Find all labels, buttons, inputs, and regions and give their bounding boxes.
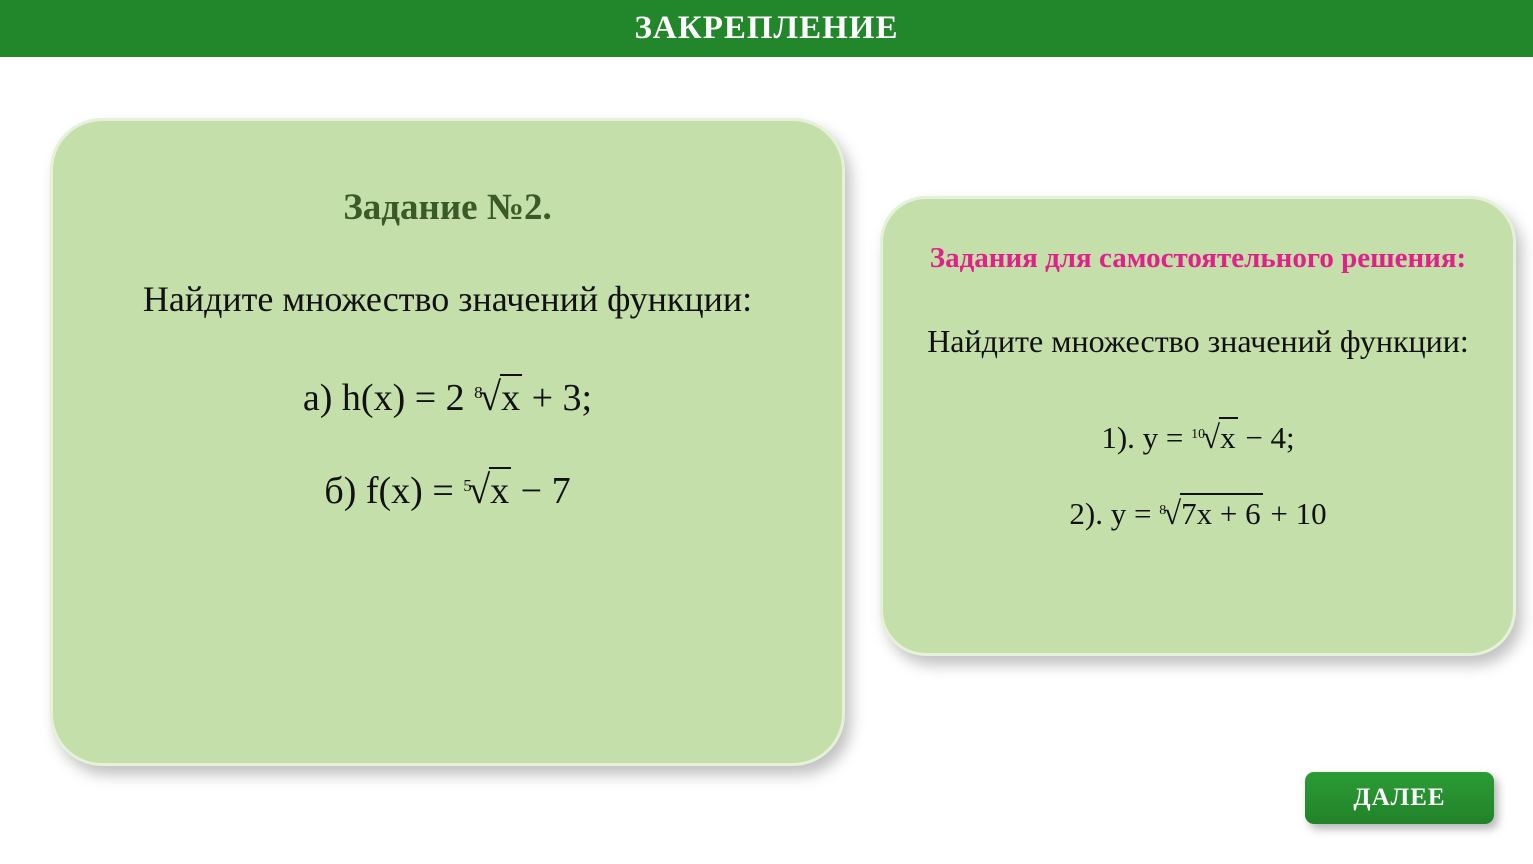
radical-expression: 5√x	[463, 466, 511, 513]
radical-expression: 10√x	[1191, 420, 1237, 457]
radicand: 7x + 6	[1180, 493, 1262, 531]
task-title: Задание №2.	[50, 186, 845, 229]
task-prompt: Найдите множество значений функции:	[50, 278, 845, 320]
formula-a-label: а) h(x) = 2	[303, 377, 465, 419]
page-title: ЗАКРЕПЛЕНИЕ	[0, 0, 1533, 57]
radicand: x	[500, 374, 522, 419]
radical-index: 5	[463, 476, 472, 495]
header-bar: ЗАКРЕПЛЕНИЕ	[0, 0, 1533, 57]
next-button[interactable]: ДАЛЕЕ	[1305, 772, 1494, 824]
independent-work-panel: Задания для самостоятельного решения: На…	[880, 196, 1516, 656]
item-2-label: 2). y =	[1069, 496, 1151, 531]
item-2-tail: + 10	[1270, 496, 1326, 531]
item-1-tail: − 4;	[1245, 420, 1294, 455]
formula-a: а) h(x) = 2 8√x + 3;	[50, 373, 845, 420]
independent-work-prompt: Найдите множество значений функции:	[898, 322, 1498, 360]
radical-expression: 8√x	[474, 373, 522, 420]
radical-index: 8	[474, 383, 483, 402]
radical-index: 8	[1159, 503, 1166, 518]
list-item: 1). y = 10√x − 4;	[880, 420, 1516, 457]
formula-b-label: б) f(x) =	[324, 470, 453, 512]
task-panel: Задание №2. Найдите множество значений ф…	[50, 118, 845, 766]
radical-expression: 8√7x + 6	[1159, 496, 1262, 533]
formula-b-tail: − 7	[521, 470, 571, 512]
radical-index: 10	[1191, 427, 1205, 442]
radicand: x	[489, 467, 511, 512]
formula-b: б) f(x) = 5√x − 7	[50, 466, 845, 513]
independent-work-heading: Задания для самостоятельного решения:	[898, 242, 1498, 275]
formula-a-tail: + 3;	[532, 377, 593, 419]
item-1-label: 1). y =	[1101, 420, 1183, 455]
list-item: 2). y = 8√7x + 6 + 10	[880, 496, 1516, 533]
radicand: x	[1219, 417, 1238, 455]
